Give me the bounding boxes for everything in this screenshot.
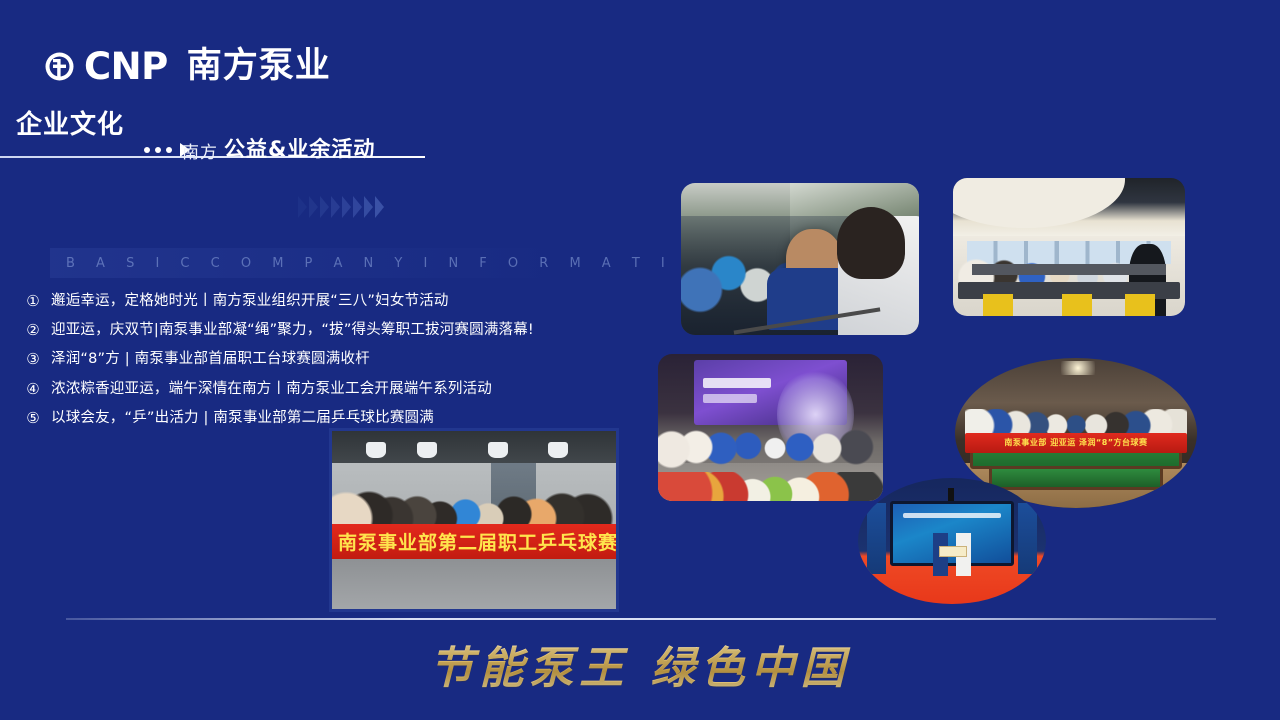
list-item-number: ④: [24, 380, 42, 399]
table-tennis-banner-text: 南泵事业部第二届职工乒乓球赛: [338, 528, 616, 555]
award-ceremony-photo: [858, 478, 1046, 604]
list-item-number: ⑤: [24, 409, 42, 428]
list-item-label: 以球会友，“乒”出活力 | 南泵事业部第二届乒乓球比赛圆满: [51, 409, 434, 428]
list-item: ④ 浓浓粽香迎亚运，端午深情在南方丨南方泵业工会开展端午系列活动: [24, 380, 644, 399]
mid-autumn-party-photo: [658, 354, 883, 501]
list-item-number: ①: [24, 292, 42, 311]
section-prefix: 南方: [182, 138, 218, 163]
basic-company-information-watermark: B A S I C C O M P A N Y I N F O R M A T …: [50, 248, 595, 278]
slide-root: CNP 南方泵业 企业文化 南方 公益&业余活动 B A S I C C O M…: [0, 0, 1280, 720]
canteen-cooking-photo: [953, 178, 1185, 316]
table-tennis-banner: 南泵事业部第二届职工乒乓球赛: [332, 524, 616, 560]
list-item-label: 邂逅幸运，定格她时光丨南方泵业组织开展“三八”妇女节活动: [51, 292, 449, 311]
list-item: ⑤ 以球会友，“乒”出活力 | 南泵事业部第二届乒乓球比赛圆满: [24, 409, 644, 428]
list-item-number: ③: [24, 350, 42, 369]
section-topic: 公益&业余活动: [224, 133, 375, 163]
list-item: ② 迎亚运，庆双节|南泵事业部凝“绳”聚力，“拔”得头筹职工拔河赛圆满落幕!: [24, 321, 644, 340]
section-title: 企业文化: [16, 112, 124, 139]
activity-list: ① 邂逅幸运，定格她时光丨南方泵业组织开展“三八”妇女节活动 ② 迎亚运，庆双节…: [24, 292, 644, 438]
list-item: ① 邂逅幸运，定格她时光丨南方泵业组织开展“三八”妇女节活动: [24, 292, 644, 311]
billiards-banner: 南泵事业部 迎亚运 泽润“8”方台球赛: [965, 433, 1188, 453]
footer-slogan: 节能泵王 绿色中国: [0, 632, 1280, 696]
list-item-number: ②: [24, 321, 42, 340]
cnp-monogram-icon: [44, 51, 75, 82]
billiards-banner-text: 南泵事业部 迎亚运 泽润“8”方台球赛: [1004, 437, 1147, 448]
list-item: ③ 泽润“8”方 | 南泵事业部首届职工台球赛圆满收杆: [24, 350, 644, 369]
chevron-right-icon-row: [298, 196, 384, 218]
list-item-label: 迎亚运，庆双节|南泵事业部凝“绳”聚力，“拔”得头筹职工拔河赛圆满落幕!: [51, 321, 534, 340]
logo-text-en: CNP: [84, 48, 168, 85]
watermark-text: B A S I C C O M P A N Y I N F O R M A T …: [50, 256, 735, 271]
logo-text-cn: 南方泵业: [187, 49, 331, 84]
list-item-label: 泽润“8”方 | 南泵事业部首届职工台球赛圆满收杆: [51, 350, 370, 369]
list-item-label: 浓浓粽香迎亚运，端午深情在南方丨南方泵业工会开展端午系列活动: [51, 380, 492, 399]
brand-logo: CNP 南方泵业: [44, 48, 331, 85]
tug-of-war-photo: [681, 183, 919, 335]
table-tennis-team-photo: 南泵事业部第二届职工乒乓球赛: [329, 428, 619, 612]
footer-slogan-text: 节能泵王 绿色中国: [429, 632, 850, 696]
footer-divider: [66, 618, 1216, 620]
